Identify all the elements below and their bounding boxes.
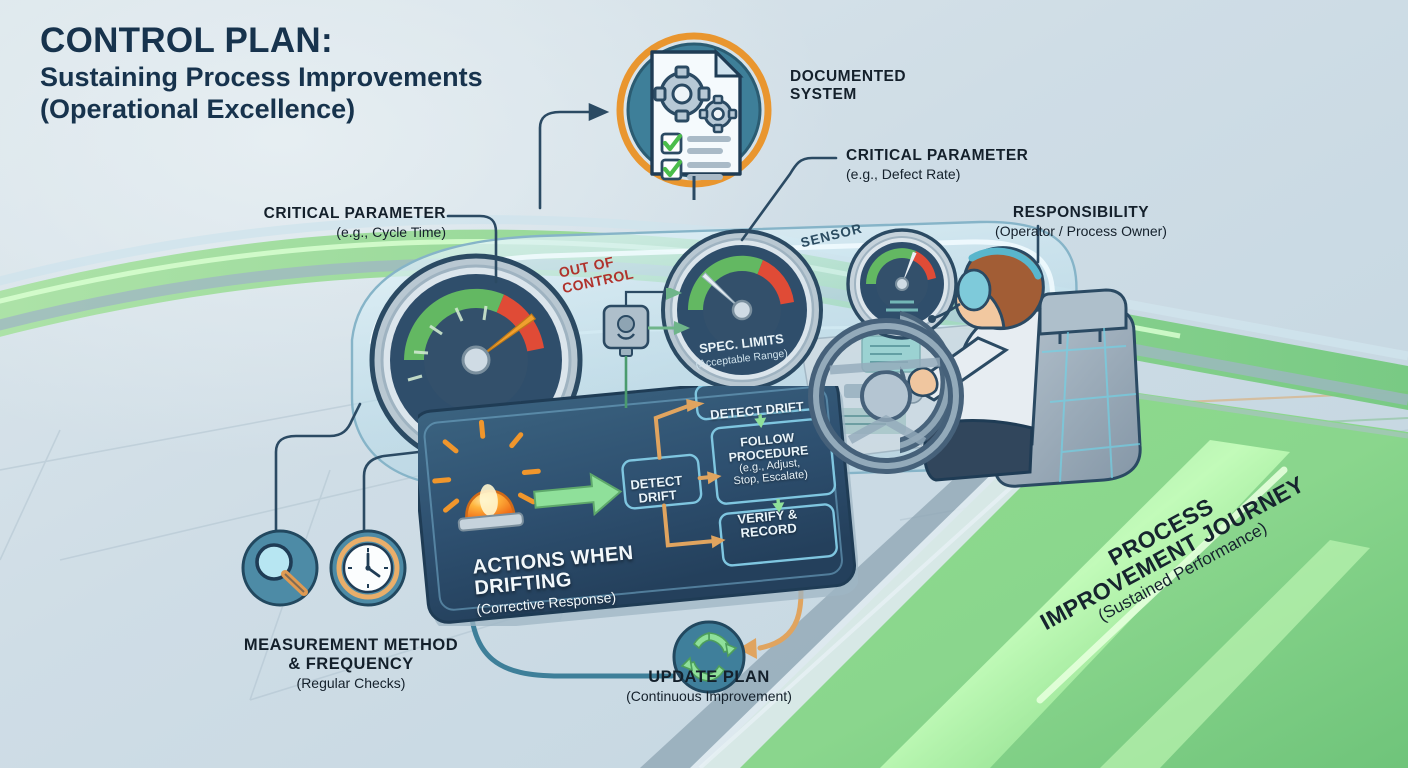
callout-measurement-method: MEASUREMENT METHOD & FREQUENCY (Regular … — [196, 636, 506, 692]
callout-update-plan: UPDATE PLAN (Continuous Improvement) — [554, 668, 864, 705]
sensor-device-icon — [596, 288, 726, 418]
steering-wheel-front — [790, 300, 970, 500]
callout-responsibility: RESPONSIBILITY (Operator / Process Owner… — [950, 204, 1212, 240]
callout-critical-parameter-right: CRITICAL PARAMETER (e.g., Defect Rate) — [846, 147, 1028, 183]
callout-critical-parameter-left: CRITICAL PARAMETER (e.g., Cycle Time) — [150, 205, 446, 241]
callout-documented-system: DOCUMENTED SYSTEM — [790, 68, 906, 104]
magnifier-icon — [240, 528, 320, 608]
title-main: CONTROL PLAN: — [40, 21, 333, 60]
page-title: CONTROL PLAN: Sustaining Process Improve… — [40, 22, 680, 126]
infographic-canvas: SPEC. LIMITS (Acceptable Range) SPEC. LI… — [0, 0, 1408, 768]
headrest — [1040, 290, 1126, 334]
clock-icon — [328, 528, 408, 608]
title-sub-line1: Sustaining Process Improvements — [40, 62, 483, 92]
title-sub-line2: (Operational Excellence) — [40, 94, 355, 124]
